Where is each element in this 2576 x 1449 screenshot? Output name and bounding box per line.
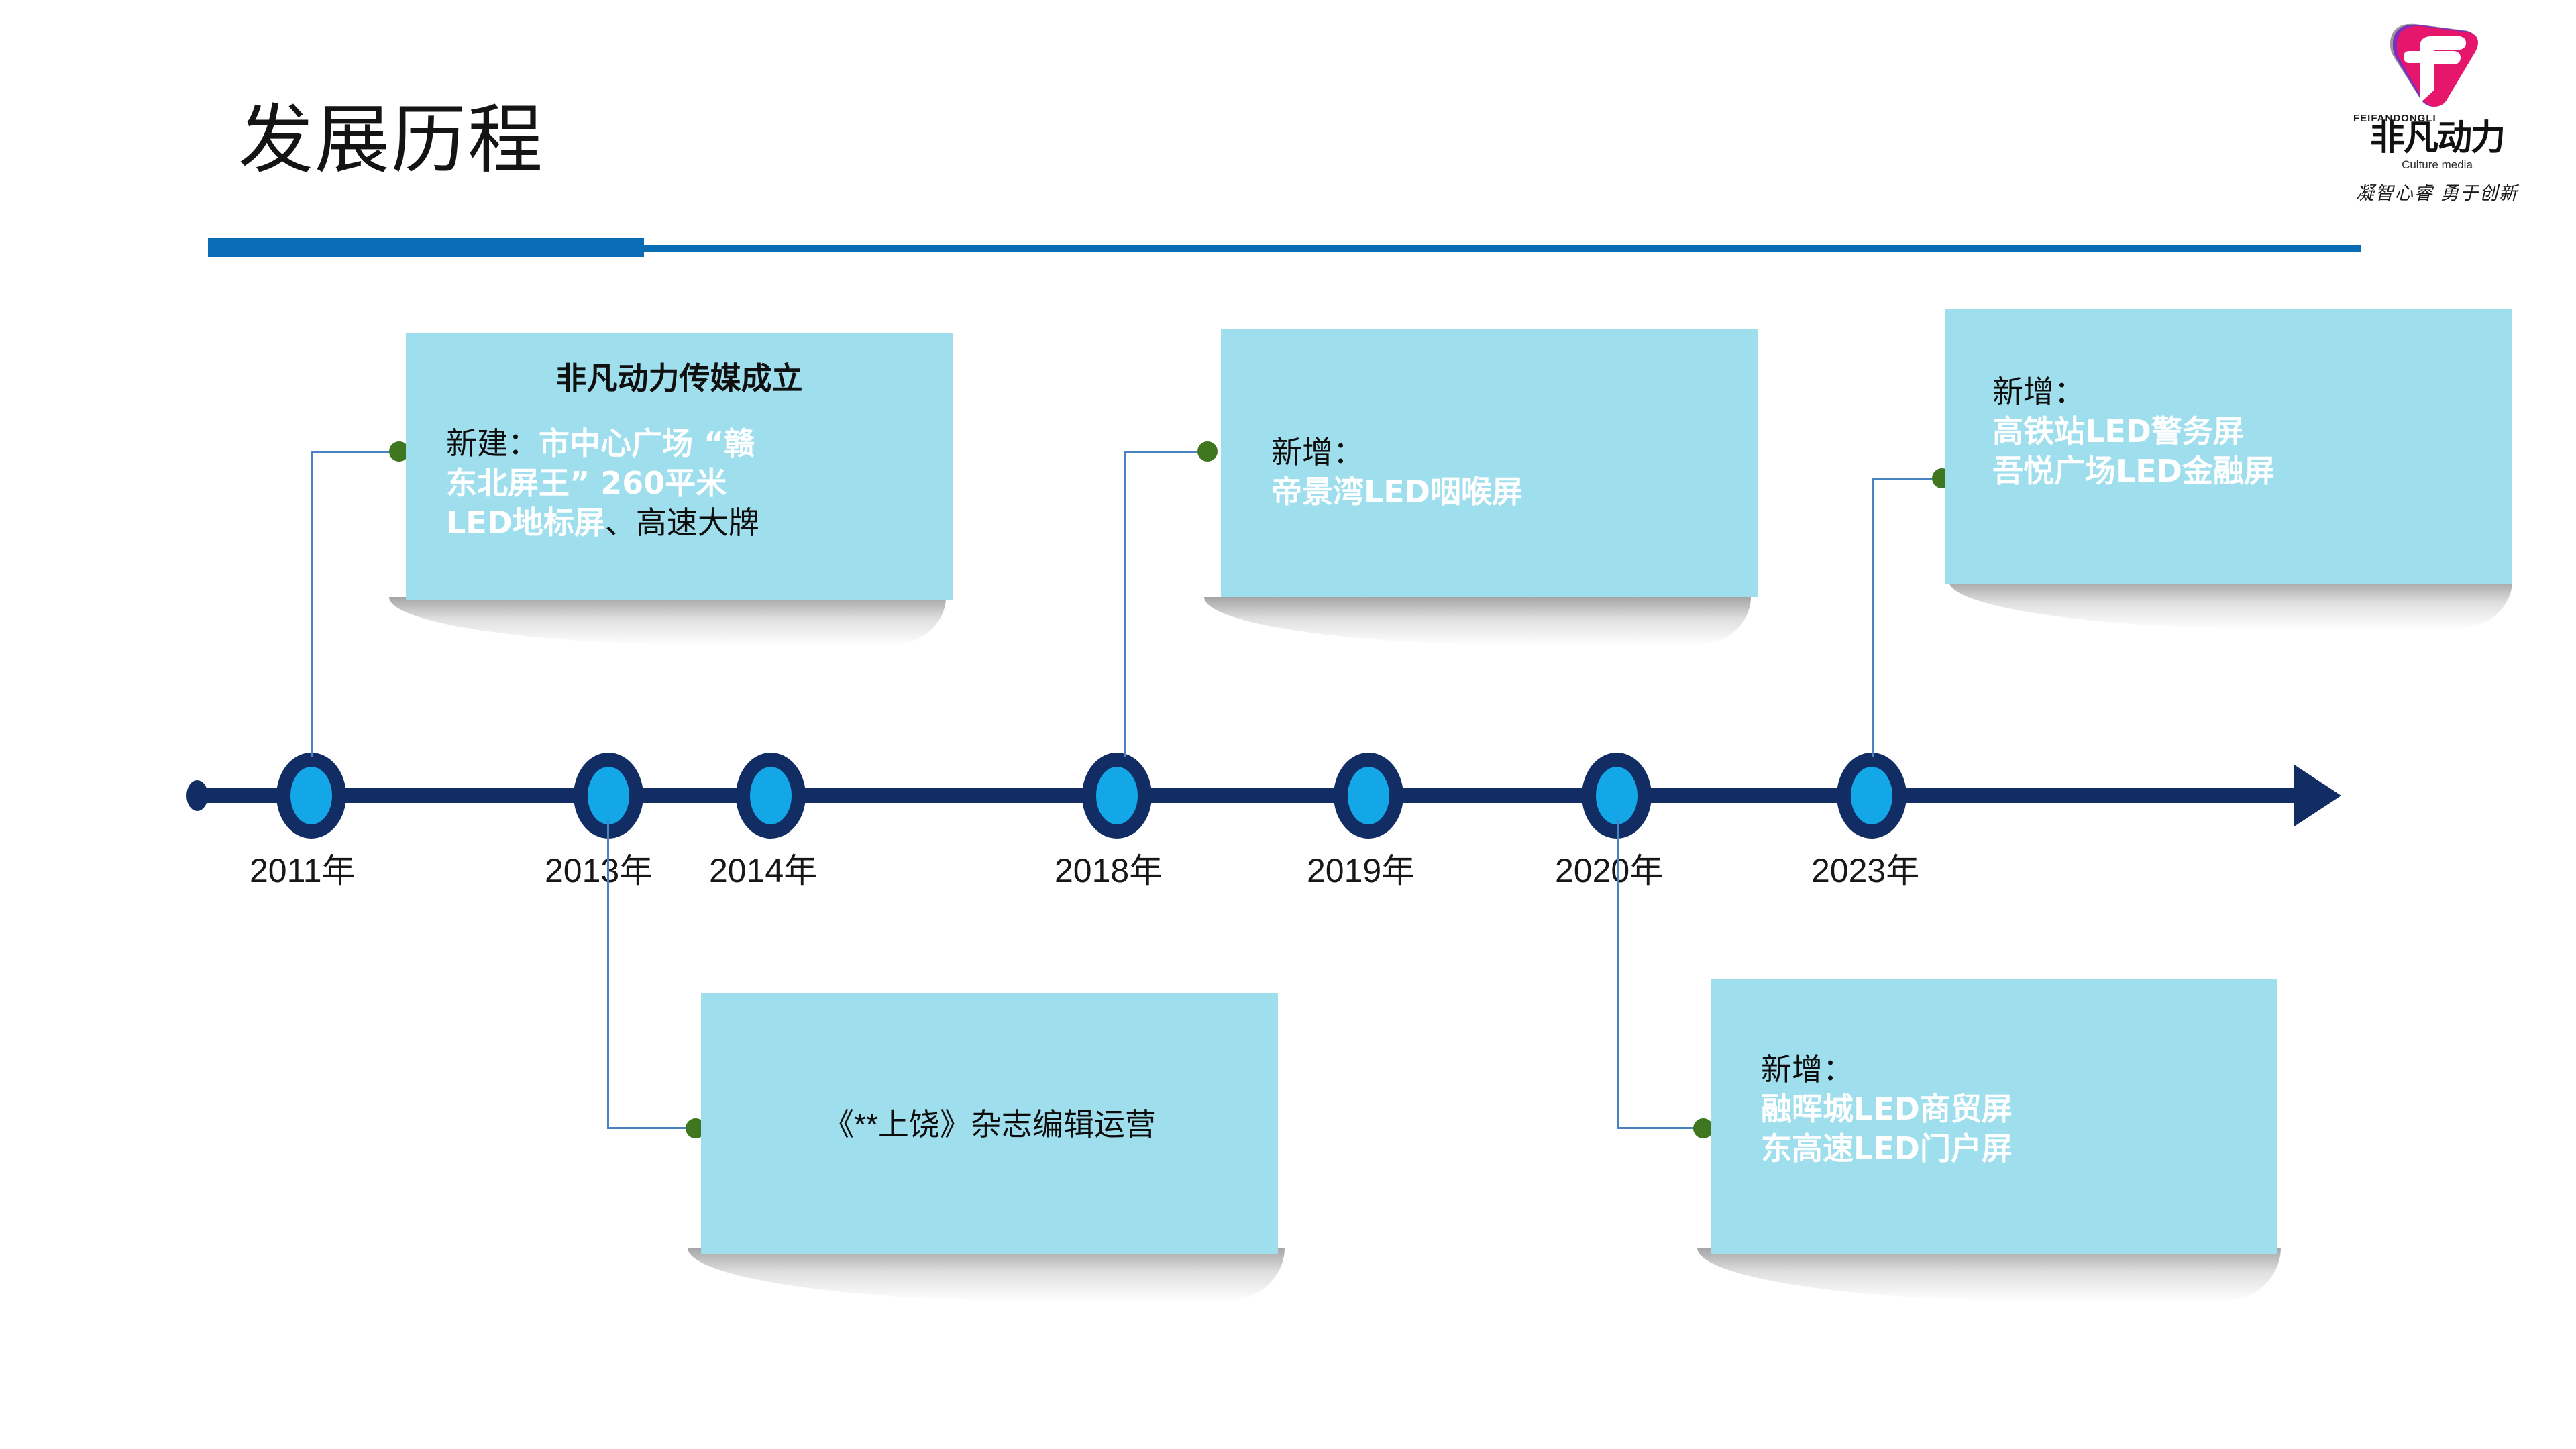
timeline-node-2011[interactable] — [276, 753, 346, 839]
card-2014-shadow — [1204, 597, 1751, 645]
timeline-node-2023[interactable] — [1837, 753, 1907, 839]
card-2014-line1: 帝景湾LED咽喉屏 — [1271, 474, 1523, 510]
card-2011-heading: 非凡动力传媒成立 — [406, 360, 953, 397]
card-2020-shadow — [1697, 1248, 2281, 1301]
company-logo: FEIFANDONGLI 非凡动力 Culture media 凝智心睿 勇于创… — [2341, 20, 2536, 221]
logo-subtitle: Culture media — [2347, 158, 2528, 172]
card-2011[interactable]: 非凡动力传媒成立 新建：市中心广场 “赣 东北屏王” 260平米 LED地标屏、… — [406, 333, 953, 600]
connector-2023-vline — [1872, 478, 1874, 757]
card-2020-lead: 新增： — [1761, 1052, 1854, 1087]
connector-2014-dot — [1197, 441, 1218, 462]
connector-2011-hline — [311, 451, 401, 453]
card-2020-line1: 融晖城LED商贸屏 — [1761, 1091, 2012, 1127]
connector-2013-hline — [607, 1127, 698, 1129]
card-2020-line2: 东高速LED门户屏 — [1761, 1130, 2012, 1167]
connector-2020-vline — [1617, 820, 1619, 1128]
card-2011-shadow — [389, 597, 946, 645]
timeline-year-2013: 2013年 — [545, 844, 653, 892]
timeline-node-2019[interactable] — [1334, 753, 1403, 839]
connector-2014-vline — [1124, 451, 1126, 757]
timeline-year-2011: 2011年 — [250, 844, 356, 892]
timeline-year-2019: 2019年 — [1307, 844, 1415, 892]
card-2023[interactable]: 新增： 高铁站LED警务屏 吾悦广场LED金融屏 — [1945, 309, 2512, 584]
card-2023-line2: 吾悦广场LED金融屏 — [1992, 453, 2275, 489]
timeline-node-2018[interactable] — [1082, 753, 1152, 839]
card-2023-shadow — [1949, 581, 2512, 629]
card-2011-line1: 市中心广场 “赣 — [539, 425, 755, 462]
timeline-year-2023: 2023年 — [1811, 844, 1919, 892]
card-2011-line3a: LED地标屏 — [446, 504, 605, 541]
card-2013-shadow — [688, 1248, 1285, 1301]
timeline-year-2020: 2020年 — [1555, 844, 1663, 892]
timeline-year-2014: 2014年 — [709, 844, 817, 892]
card-2011-line3b: 、高速大牌 — [605, 505, 759, 540]
card-2023-line1: 高铁站LED警务屏 — [1992, 413, 2244, 449]
card-2014[interactable]: 新增： 帝景湾LED咽喉屏 — [1221, 329, 1758, 597]
timeline-node-2014[interactable] — [736, 753, 806, 839]
card-2023-lead: 新增： — [1992, 374, 2085, 409]
card-2020[interactable]: 新增： 融晖城LED商贸屏 东高速LED门户屏 — [1711, 979, 2277, 1254]
card-2011-lead: 新建： — [446, 426, 539, 461]
logo-tagline: 凝智心睿 勇于创新 — [2347, 178, 2528, 205]
logo-f-mark-icon — [2378, 20, 2479, 107]
timeline-arrow-icon — [2294, 765, 2341, 826]
card-2013-text: 《**上饶》杂志编辑运营 — [701, 1100, 1278, 1144]
timeline-year-2018: 2018年 — [1055, 844, 1163, 892]
page-title: 发展历程 — [238, 101, 544, 180]
connector-2020-hline — [1617, 1127, 1705, 1129]
connector-2013-vline — [607, 820, 609, 1128]
title-rule-thin — [641, 245, 2361, 252]
card-2011-line2: 东北屏王” 260平米 — [446, 465, 727, 501]
connector-2014-hline — [1124, 451, 1208, 453]
card-2014-lead: 新增： — [1271, 435, 1364, 470]
timeline-axis — [201, 788, 2308, 803]
card-2013[interactable]: 《**上饶》杂志编辑运营 — [701, 993, 1278, 1254]
logo-name-cn: 非凡动力 — [2347, 121, 2528, 156]
title-rule-thick — [208, 238, 644, 257]
connector-2011-vline — [311, 451, 313, 757]
